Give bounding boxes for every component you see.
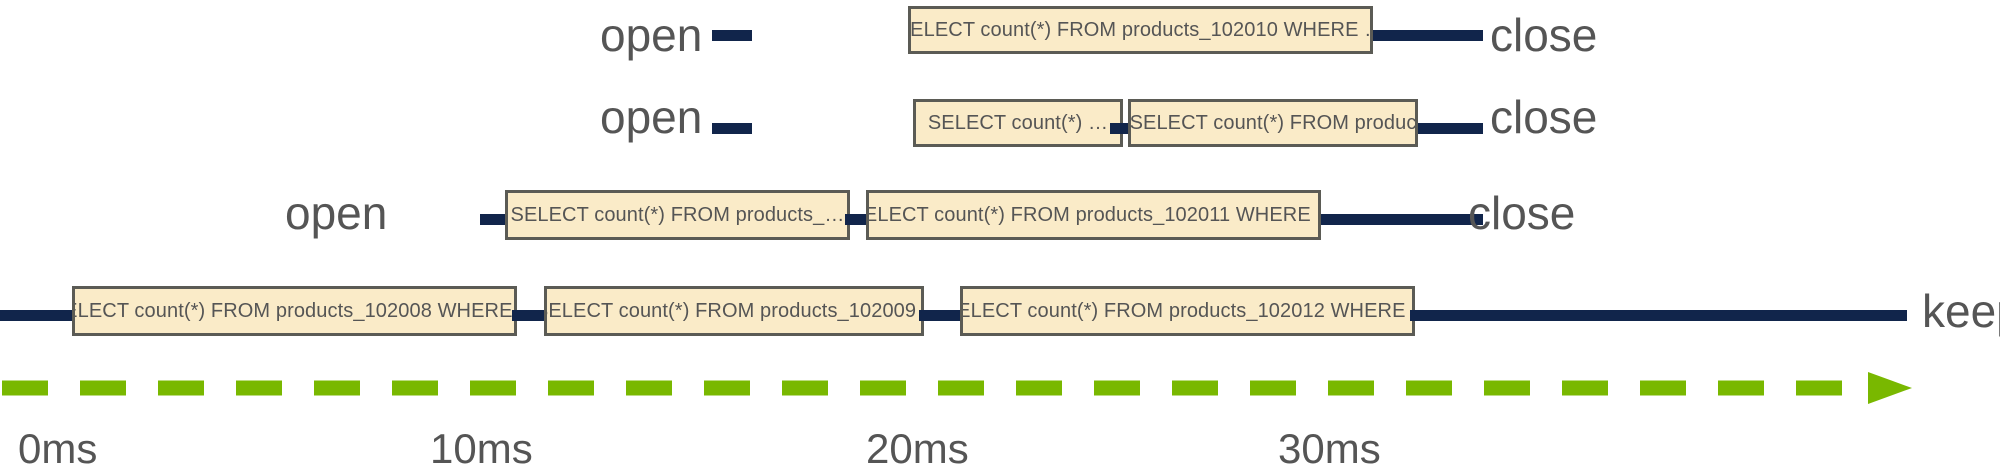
row-1-lifeline-left bbox=[712, 30, 752, 41]
row-4-keep-label: keep bbox=[1922, 288, 2000, 334]
row-2-lifeline-right bbox=[1418, 123, 1483, 134]
row-3-query-box-2[interactable]: SELECT count(*) FROM products_102011 WHE… bbox=[866, 190, 1321, 240]
row-2-query-box-1[interactable]: SELECT count(*) … bbox=[913, 99, 1123, 147]
row-3-lifeline-right bbox=[1321, 214, 1483, 225]
row-3-query-box-1[interactable]: SELECT count(*) FROM products_… bbox=[505, 190, 850, 240]
row-4-lifeline-end bbox=[1410, 310, 1907, 321]
row-4-query-box-1[interactable]: SELECT count(*) FROM products_102008 WHE… bbox=[72, 286, 517, 336]
time-tick-30ms: 30ms bbox=[1278, 428, 1381, 470]
row-1-lifeline-right bbox=[1373, 30, 1483, 41]
time-tick-0ms: 0ms bbox=[18, 428, 97, 470]
row-1-query-box-1[interactable]: SELECT count(*) FROM products_102010 WHE… bbox=[908, 6, 1373, 54]
row-2-query-box-2[interactable]: SELECT count(*) FROM produc bbox=[1128, 99, 1418, 147]
row-2-lifeline-left bbox=[712, 123, 752, 134]
time-axis-arrow-icon bbox=[0, 372, 2000, 412]
row-2-close-label: close bbox=[1490, 94, 1690, 140]
timeline-diagram: open SELECT count(*) FROM products_10201… bbox=[0, 0, 2000, 476]
row-3-close-label: close bbox=[1468, 190, 1668, 236]
row-4-lifeline-start bbox=[0, 310, 80, 321]
row-2-open-label: open bbox=[600, 94, 700, 140]
row-4-query-box-2[interactable]: SELECT count(*) FROM products_102009 .. bbox=[544, 286, 924, 336]
time-tick-10ms: 10ms bbox=[430, 428, 533, 470]
time-tick-20ms: 20ms bbox=[866, 428, 969, 470]
row-3-open-label: open bbox=[285, 190, 385, 236]
row-1-close-label: close bbox=[1490, 12, 1690, 58]
row-4-query-box-3[interactable]: SELECT count(*) FROM products_102012 WHE… bbox=[960, 286, 1415, 336]
row-1-open-label: open bbox=[600, 12, 700, 58]
